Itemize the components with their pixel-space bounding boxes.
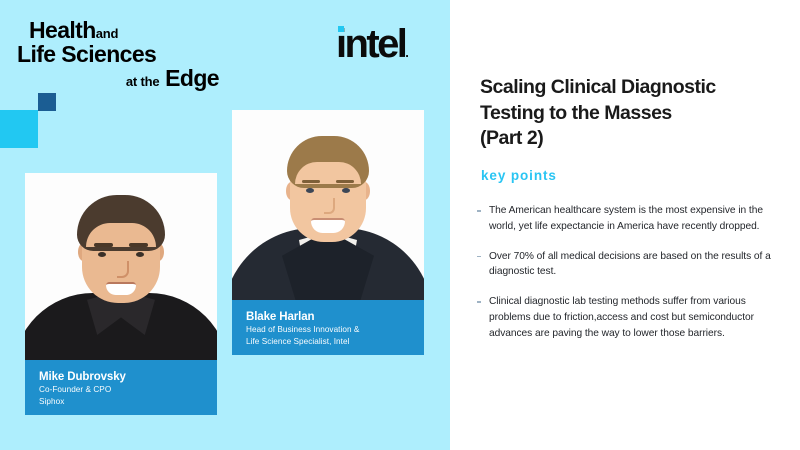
program-brand-lockup: Healthand Life Sciences at the Edge: [29, 19, 219, 90]
portrait-illustration-mike: [25, 173, 217, 360]
title-line-2: Testing to the Masses: [480, 101, 770, 127]
title-line-1: Scaling Clinical Diagnostic: [480, 75, 770, 101]
brand-line2-main: Life Sciences: [17, 41, 156, 67]
speaker-card-mike-dubrovsky: Mike Dubrovsky Co-Founder & CPO Siphox: [25, 173, 217, 415]
nameplate-blake-harlan: Blake Harlan Head of Business Innovation…: [232, 300, 424, 355]
brand-line3-small: at the: [126, 74, 159, 89]
list-item: The American healthcare system is the mo…: [474, 203, 774, 235]
nameplate-mike-dubrovsky: Mike Dubrovsky Co-Founder & CPO Siphox: [25, 360, 217, 415]
key-points-list: The American healthcare system is the mo…: [474, 203, 774, 356]
speaker-name: Mike Dubrovsky: [39, 370, 205, 384]
page-title: Scaling Clinical Diagnostic Testing to t…: [480, 75, 770, 152]
intel-registered-mark: .: [405, 45, 409, 60]
brand-line1-main: Health: [29, 17, 96, 43]
decorative-square-cyan: [0, 110, 38, 148]
section-label-key-points: key points: [481, 168, 557, 183]
speaker-role-line1: Co-Founder & CPO: [39, 384, 205, 396]
speaker-role-line2: Siphox: [39, 396, 205, 408]
speaker-photo-blake-harlan: [232, 110, 424, 300]
decorative-square-navy: [38, 93, 56, 111]
intel-logo: intel.: [336, 24, 409, 64]
title-line-3: (Part 2): [480, 126, 770, 152]
speaker-role-line1: Head of Business Innovation &: [246, 324, 412, 336]
intel-wordmark: intel: [336, 22, 405, 66]
list-item: Over 70% of all medical decisions are ba…: [474, 249, 774, 281]
speaker-photo-mike-dubrovsky: [25, 173, 217, 360]
right-panel: Scaling Clinical Diagnostic Testing to t…: [450, 0, 800, 450]
intel-logo-dot: [338, 26, 344, 32]
portrait-illustration-blake: [232, 110, 424, 300]
brand-line3-main: Edge: [165, 65, 219, 91]
brand-line1-small: and: [96, 26, 119, 41]
list-item: Clinical diagnostic lab testing methods …: [474, 294, 774, 341]
speaker-card-blake-harlan: Blake Harlan Head of Business Innovation…: [232, 110, 424, 355]
left-panel: Healthand Life Sciences at the Edge inte…: [0, 0, 450, 450]
speaker-name: Blake Harlan: [246, 310, 412, 324]
speaker-role-line2: Life Science Specialist, Intel: [246, 336, 412, 348]
